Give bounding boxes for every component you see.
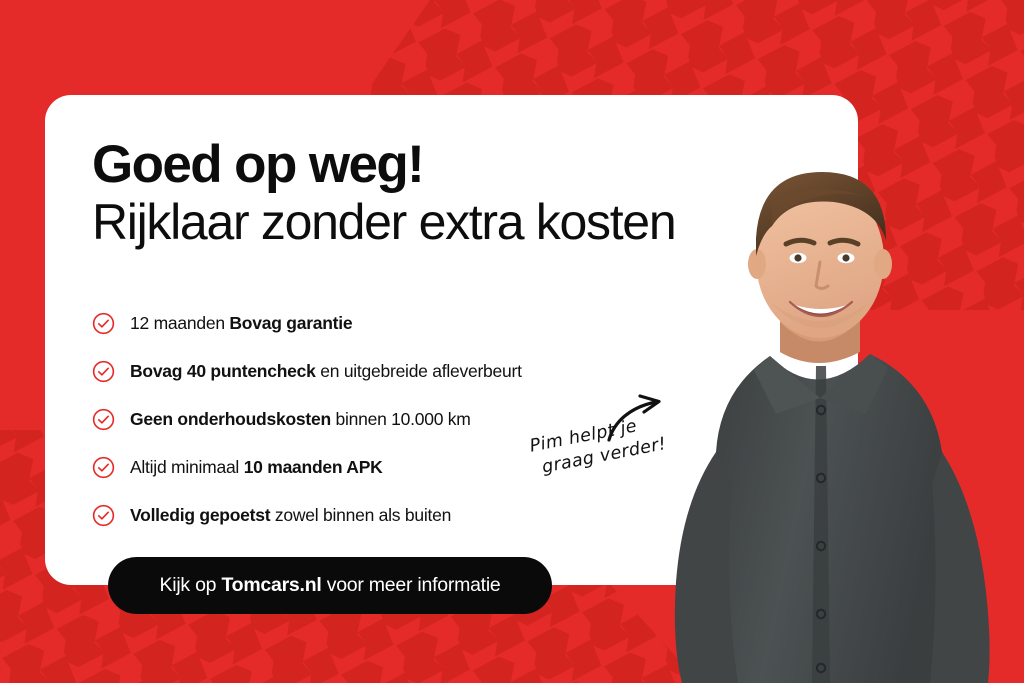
feature-suffix: zowel binnen als buiten (270, 505, 451, 525)
headline-primary: Goed op weg! (92, 138, 792, 193)
headline-block: Goed op weg! Rijklaar zonder extra koste… (92, 138, 792, 250)
cta-brand: Tomcars.nl (221, 574, 321, 596)
headline-secondary: Rijklaar zonder extra kosten (92, 194, 792, 250)
cta-button[interactable]: Kijk op Tomcars.nl voor meer informatie (108, 557, 552, 614)
feature-suffix: en uitgebreide afleverbeurt (316, 361, 522, 381)
cta-prefix: Kijk op (159, 574, 221, 596)
feature-list: 12 maanden Bovag garantie Bovag 40 punte… (92, 299, 652, 539)
list-item-label: Altijd minimaal 10 maanden APK (130, 457, 383, 478)
feature-bold: Volledig gepoetst (130, 505, 270, 525)
cta-button-label: Kijk op Tomcars.nl voor meer informatie (159, 574, 500, 597)
cta-suffix: voor meer informatie (322, 574, 501, 596)
feature-prefix: 12 maanden (130, 313, 229, 333)
list-item: Volledig gepoetst zowel binnen als buite… (92, 491, 652, 539)
list-item-label: 12 maanden Bovag garantie (130, 313, 352, 334)
feature-bold: Geen onderhoudskosten (130, 409, 331, 429)
promo-banner: Goed op weg! Rijklaar zonder extra koste… (0, 0, 1024, 683)
list-item-label: Geen onderhoudskosten binnen 10.000 km (130, 409, 471, 430)
feature-suffix: binnen 10.000 km (331, 409, 471, 429)
list-item-label: Bovag 40 puntencheck en uitgebreide afle… (130, 361, 522, 382)
check-circle-icon (92, 408, 115, 431)
feature-bold: 10 maanden APK (244, 457, 383, 477)
check-circle-icon (92, 456, 115, 479)
list-item: 12 maanden Bovag garantie (92, 299, 652, 347)
list-item: Bovag 40 puntencheck en uitgebreide afle… (92, 347, 652, 395)
list-item-label: Volledig gepoetst zowel binnen als buite… (130, 505, 451, 526)
feature-prefix: Altijd minimaal (130, 457, 244, 477)
feature-bold: Bovag 40 puntencheck (130, 361, 316, 381)
feature-bold: Bovag garantie (229, 313, 352, 333)
check-circle-icon (92, 504, 115, 527)
check-circle-icon (92, 312, 115, 335)
check-circle-icon (92, 360, 115, 383)
